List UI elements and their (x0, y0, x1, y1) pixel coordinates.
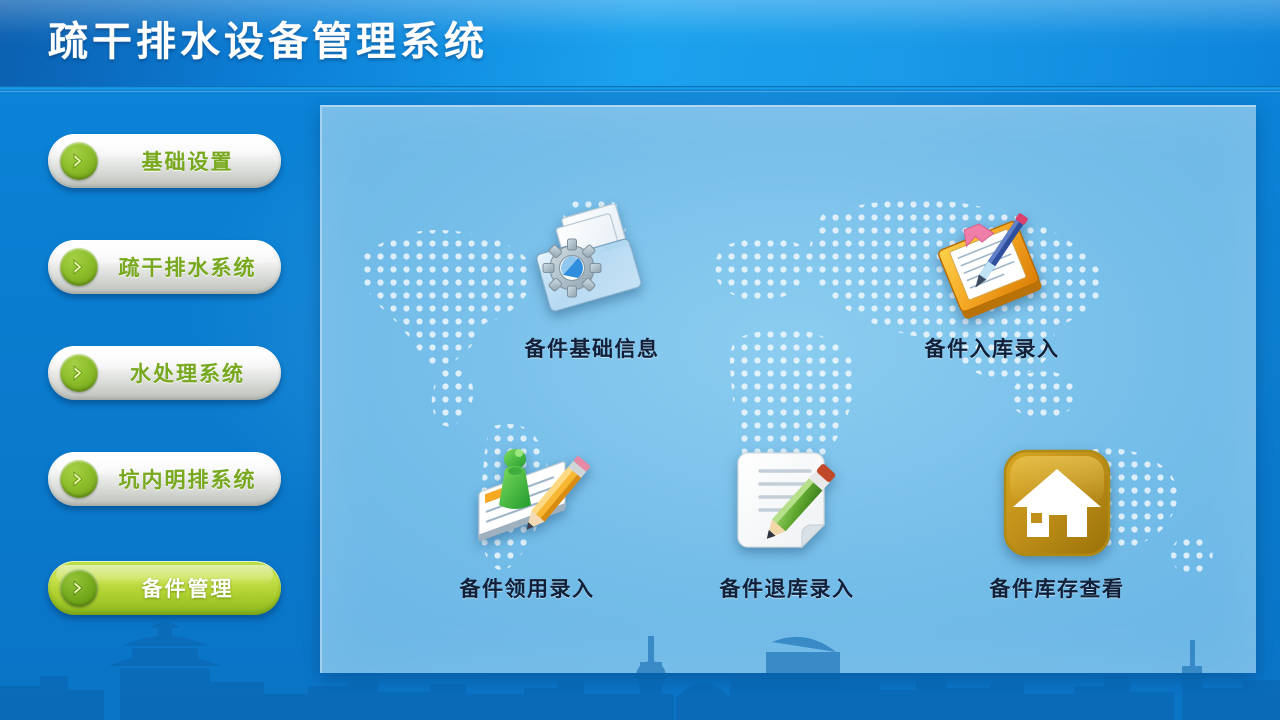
app-header: 疏干排水设备管理系统 (0, 0, 1280, 86)
sidebar-item-label: 备件管理 (106, 561, 269, 615)
tile-label: 备件领用录入 (460, 573, 595, 603)
chevron-right-icon (60, 460, 98, 498)
chevron-right-icon (60, 142, 98, 180)
page-title: 疏干排水设备管理系统 (48, 13, 488, 71)
sidebar-nav: 基础设置 疏干排水系统 水处理系统 坑内 (0, 91, 320, 720)
sidebar-item-drainage-system[interactable]: 疏干排水系统 (48, 240, 281, 294)
chevron-right-icon (60, 354, 98, 392)
tile-label: 备件退库录入 (720, 573, 855, 603)
house-gold-icon (991, 437, 1123, 569)
sidebar-item-pit-drainage[interactable]: 坑内明排系统 (48, 452, 281, 506)
tile-label: 备件基础信息 (525, 333, 660, 363)
sidebar-item-label: 基础设置 (106, 134, 269, 188)
sidebar-item-label: 水处理系统 (106, 346, 269, 400)
tile-spare-part-return-entry[interactable]: 备件退库录入 (682, 437, 892, 603)
tile-spare-part-inventory-view[interactable]: 备件库存查看 (952, 437, 1162, 603)
sidebar-item-water-treatment[interactable]: 水处理系统 (48, 346, 281, 400)
sidebar-item-label: 坑内明排系统 (106, 452, 269, 506)
tile-spare-part-basic-info[interactable]: 备件基础信息 (487, 197, 697, 363)
sidebar-item-spare-parts-management[interactable]: 备件管理 (48, 561, 281, 615)
content-panel: 备件基础信息 (320, 105, 1256, 673)
clipboard-pen-icon (926, 197, 1058, 329)
sidebar-item-basic-settings[interactable]: 基础设置 (48, 134, 281, 188)
application-window: 疏干排水设备管理系统 基础设置 疏干排水系统 (0, 0, 1280, 720)
tile-spare-part-inbound-entry[interactable]: 备件入库录入 (887, 197, 1097, 363)
notepad-pencil-icon (461, 437, 593, 569)
chevron-right-icon (60, 569, 98, 607)
chevron-right-icon (60, 248, 98, 286)
note-green-pencil-icon (721, 437, 853, 569)
sidebar-item-label: 疏干排水系统 (106, 240, 269, 294)
tile-label: 备件库存查看 (990, 573, 1125, 603)
tile-label: 备件入库录入 (925, 333, 1060, 363)
folder-gear-icon (526, 197, 658, 329)
tile-spare-part-requisition-entry[interactable]: 备件领用录入 (422, 437, 632, 603)
